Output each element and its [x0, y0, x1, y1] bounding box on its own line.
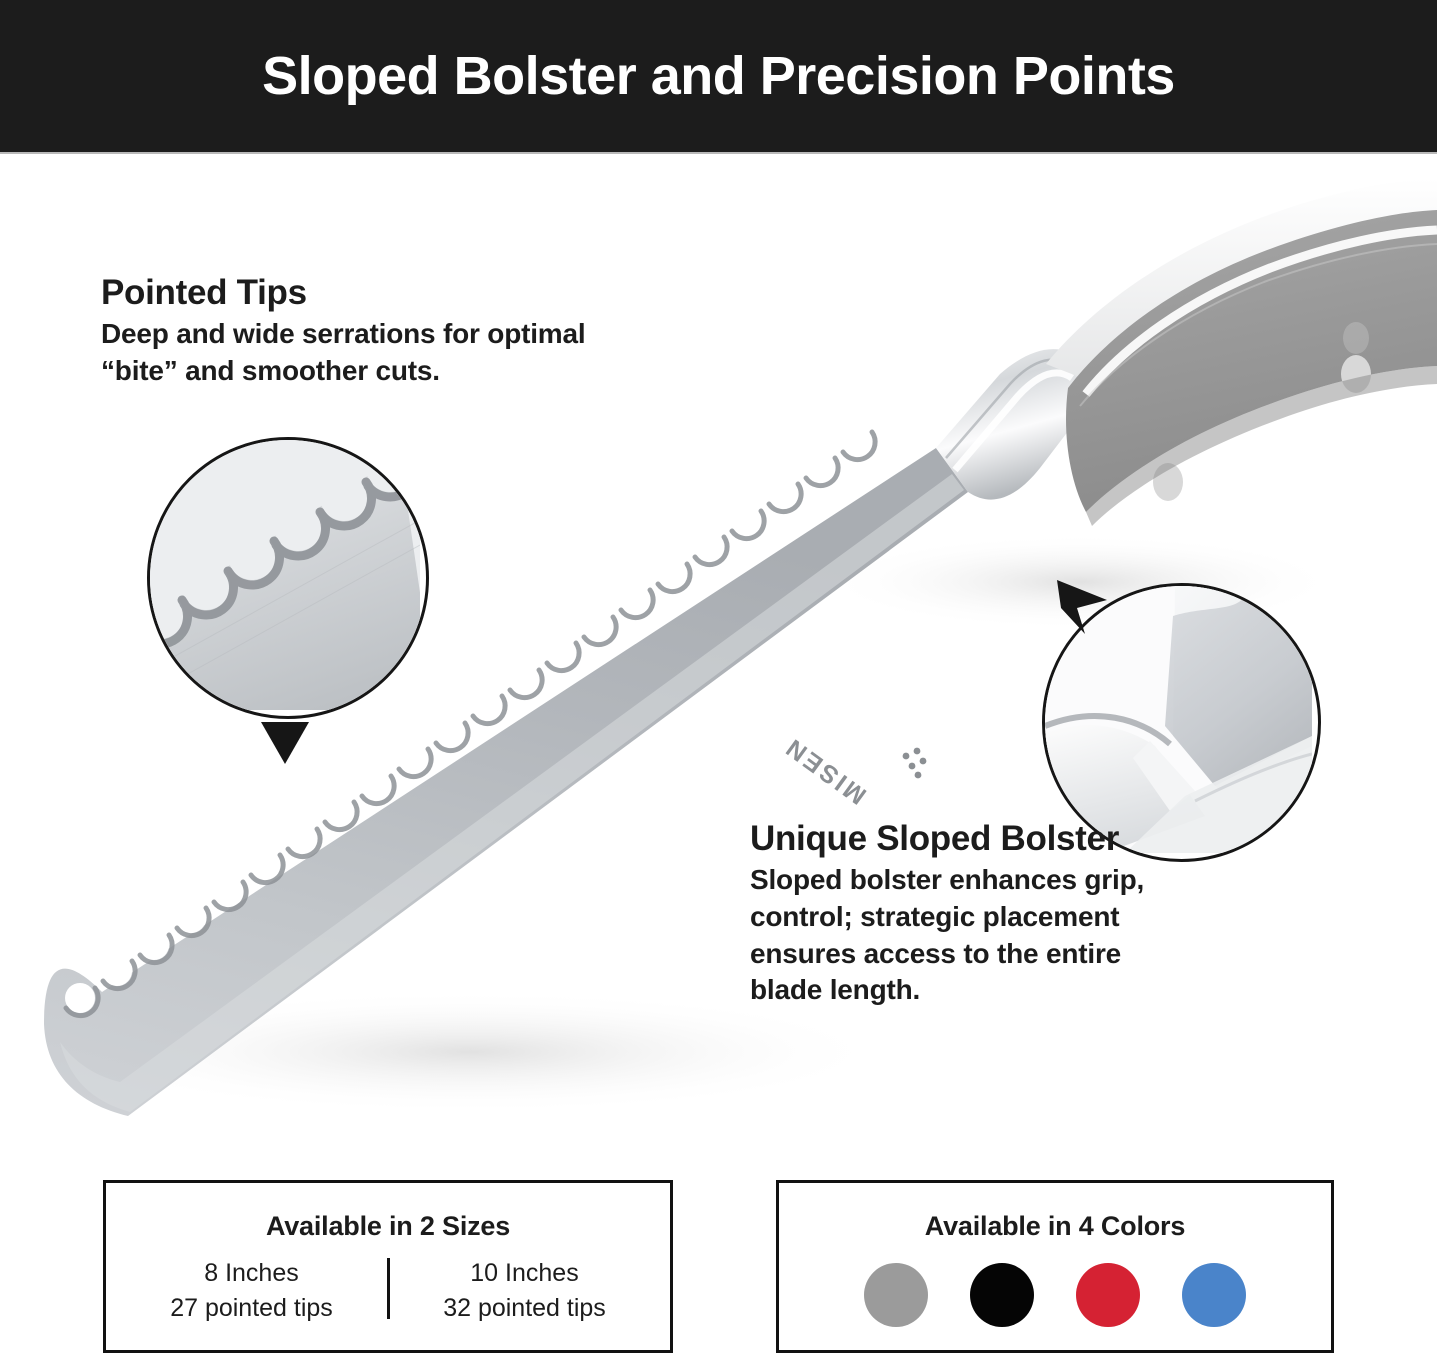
color-swatch-black [970, 1263, 1034, 1327]
size-option-10in-size: 10 Inches [402, 1256, 648, 1291]
color-swatch-red [1076, 1263, 1140, 1327]
color-swatch-row [779, 1263, 1331, 1327]
color-swatch-blue [1182, 1263, 1246, 1327]
sizes-box: Available in 2 Sizes 8 Inches 27 pointed… [103, 1180, 673, 1353]
size-option-10in-tips: 32 pointed tips [402, 1291, 648, 1326]
colors-box-title: Available in 4 Colors [779, 1211, 1331, 1242]
callout-pointed-tips-body: Deep and wide serrations for optimal “bi… [101, 316, 621, 389]
callout-pointed-tips: Pointed Tips Deep and wide serrations fo… [101, 272, 621, 390]
page-title: Sloped Bolster and Precision Points [262, 49, 1175, 103]
callout-sloped-bolster: Unique Sloped Bolster Sloped bolster enh… [750, 818, 1190, 1009]
magnifier-bolster-pointer [1055, 578, 1115, 636]
magnifier-serrations-pointer [261, 722, 309, 764]
brand-mark: MISEN [779, 732, 872, 810]
size-option-10in: 10 Inches 32 pointed tips [402, 1256, 648, 1325]
colors-box: Available in 4 Colors [776, 1180, 1334, 1353]
infographic-page: Sloped Bolster and Precision Points [0, 0, 1437, 1358]
magnifier-serrations [147, 437, 429, 719]
magnifier-serrations-image [150, 440, 426, 716]
brand-dots [903, 748, 927, 779]
size-option-8in-tips: 27 pointed tips [129, 1291, 375, 1326]
svg-text:MISEN: MISEN [779, 732, 872, 810]
callout-pointed-tips-heading: Pointed Tips [101, 272, 621, 313]
callout-sloped-bolster-heading: Unique Sloped Bolster [750, 818, 1190, 859]
size-option-8in: 8 Inches 27 pointed tips [129, 1256, 375, 1325]
color-swatch-gray [864, 1263, 928, 1327]
size-option-8in-size: 8 Inches [129, 1256, 375, 1291]
sizes-divider [387, 1258, 390, 1319]
sizes-box-title: Available in 2 Sizes [106, 1211, 670, 1242]
callout-sloped-bolster-body: Sloped bolster enhances grip, control; s… [750, 862, 1190, 1009]
sizes-row: 8 Inches 27 pointed tips 10 Inches 32 po… [106, 1256, 670, 1325]
header-bar: Sloped Bolster and Precision Points [0, 0, 1437, 152]
handle [1046, 178, 1437, 526]
